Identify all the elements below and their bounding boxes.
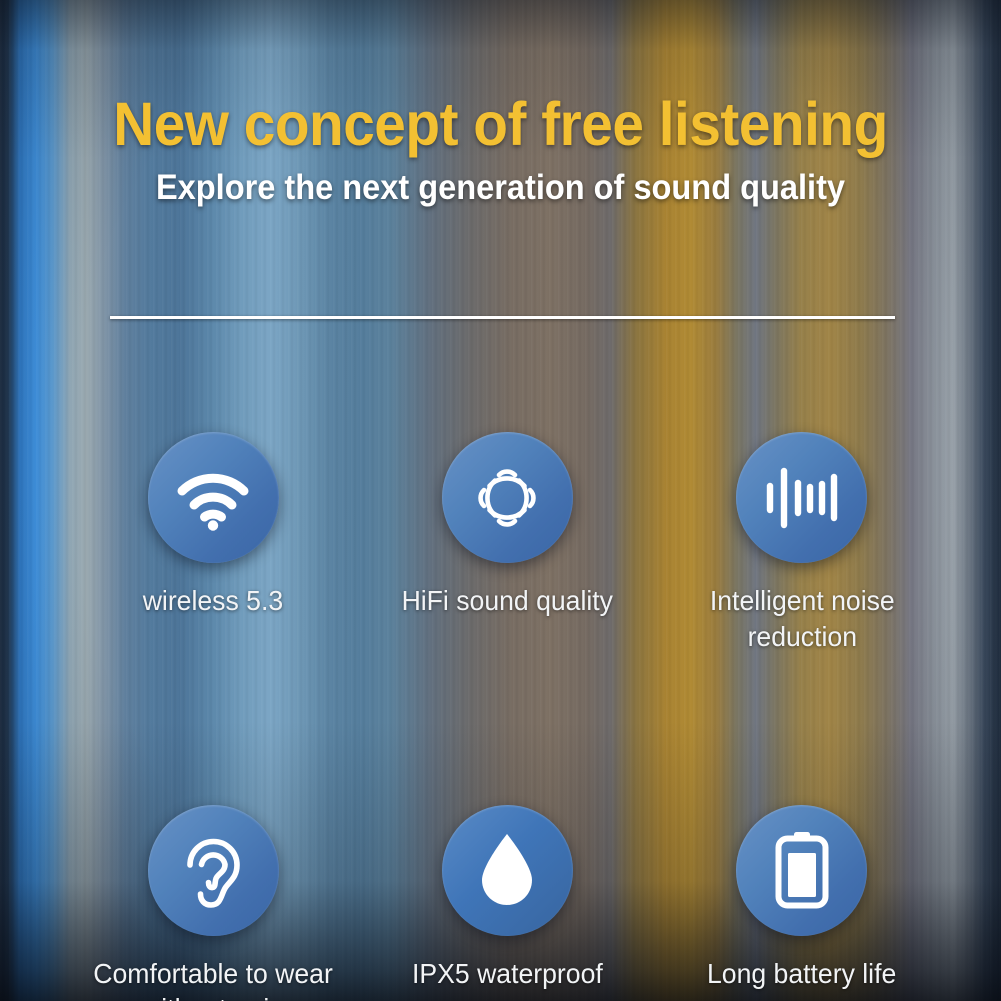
headline: New concept of free listening xyxy=(35,92,966,156)
water-drop-icon xyxy=(478,832,536,908)
feature-row-2: Comfortable to wear without pain IPX5 wa… xyxy=(60,805,941,1001)
poster-content: New concept of free listening Explore th… xyxy=(0,0,1001,1001)
wifi-icon xyxy=(174,465,252,531)
sound-waves-icon-badge xyxy=(442,432,573,563)
audio-waveform-icon-badge xyxy=(736,432,867,563)
battery-icon-badge xyxy=(736,805,867,936)
feature-waterproof-label: IPX5 waterproof xyxy=(412,956,603,992)
ear-icon xyxy=(180,831,246,909)
feature-hifi: HiFi sound quality xyxy=(360,432,654,655)
horizontal-divider xyxy=(110,316,895,319)
sound-waves-icon xyxy=(467,458,547,538)
feature-noise-reduction: Intelligent noise reduction xyxy=(655,432,949,655)
subheadline: Explore the next generation of sound qua… xyxy=(35,168,966,208)
feature-comfort-label: Comfortable to wear without pain xyxy=(93,956,333,1001)
feature-hifi-label: HiFi sound quality xyxy=(402,583,613,619)
ear-icon-badge xyxy=(148,805,279,936)
feature-comfort: Comfortable to wear without pain xyxy=(66,805,360,1001)
feature-battery: Long battery life xyxy=(655,805,949,1001)
feature-waterproof: IPX5 waterproof xyxy=(360,805,654,1001)
product-feature-poster: New concept of free listening Explore th… xyxy=(0,0,1001,1001)
feature-wireless: wireless 5.3 xyxy=(66,432,360,655)
feature-wireless-label: wireless 5.3 xyxy=(143,583,283,619)
feature-battery-label: Long battery life xyxy=(707,956,896,992)
feature-noise-reduction-label: Intelligent noise reduction xyxy=(709,583,894,655)
wifi-icon-badge xyxy=(148,432,279,563)
battery-icon xyxy=(775,831,829,909)
feature-grid: wireless 5.3 xyxy=(60,432,941,1001)
water-drop-icon-badge xyxy=(442,805,573,936)
audio-waveform-icon xyxy=(764,467,840,529)
feature-row-1: wireless 5.3 xyxy=(60,432,941,655)
